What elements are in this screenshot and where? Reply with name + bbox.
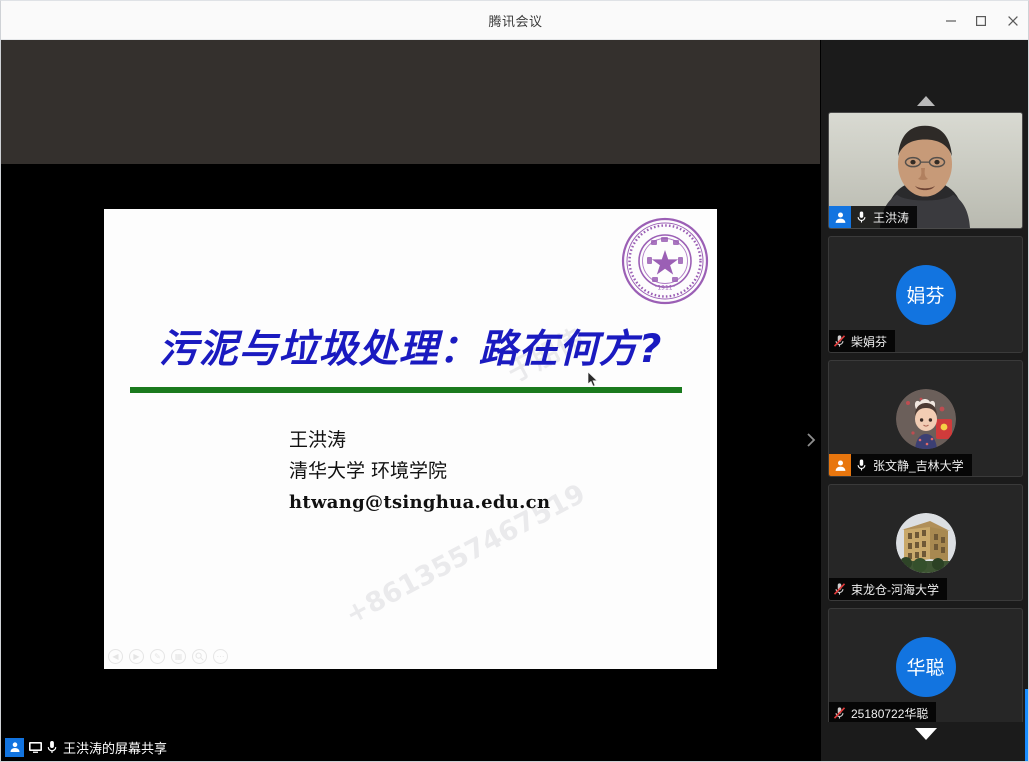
maximize-button[interactable] xyxy=(966,1,996,40)
avatar xyxy=(896,389,956,449)
all-slides-button[interactable]: ▦ xyxy=(171,649,186,664)
screen-share-icon xyxy=(28,741,43,754)
participant-name: 柴娟芬 xyxy=(851,333,887,350)
window-title: 腾讯会议 xyxy=(488,11,542,30)
participant-tile[interactable]: 娟芬 柴娟芬 xyxy=(828,236,1023,353)
participant-tile[interactable]: 张文静_吉林大学 xyxy=(828,360,1023,477)
title-bar: 腾讯会议 xyxy=(1,1,1029,40)
presentation-slide: "1911" +8613557467519 于朋伟 污泥与垃圾处理：路在何方? … xyxy=(104,209,717,669)
shared-screen-area[interactable]: "1911" +8613557467519 于朋伟 污泥与垃圾处理：路在何方? … xyxy=(1,40,820,762)
microphone-muted-icon xyxy=(829,334,849,348)
previous-slide-button[interactable]: ◀ xyxy=(108,649,123,664)
shared-desktop-background xyxy=(1,40,820,164)
participant-tiles-list: 王洪涛 娟芬 柴娟芬 xyxy=(821,112,1029,722)
more-options-button[interactable]: ⋯ xyxy=(213,649,228,664)
rail-scroll-down-triangle-down-icon[interactable] xyxy=(821,723,1029,745)
rail-scroll-up-triangle-up-icon[interactable] xyxy=(821,90,1029,112)
participant-tile[interactable]: 王洪涛 xyxy=(828,112,1023,229)
participant-label: 束龙仓-河海大学 xyxy=(829,578,947,600)
participant-label: 王洪涛 xyxy=(829,206,917,228)
slideshow-control-bar[interactable]: ◀ ▶ ✎ ▦ ⋯ xyxy=(108,649,228,664)
slide-author-name: 王洪涛 xyxy=(289,425,550,456)
host-person-icon xyxy=(5,738,24,757)
slideshow-stage: "1911" +8613557467519 于朋伟 污泥与垃圾处理：路在何方? … xyxy=(1,164,820,762)
sidebar-collapse-chevron-right-icon[interactable] xyxy=(801,420,820,460)
participant-tile[interactable]: 华聪 25180722华聪 xyxy=(828,608,1023,722)
microphone-icon xyxy=(851,458,871,472)
zoom-in-button[interactable] xyxy=(192,649,207,664)
host-person-icon xyxy=(829,206,851,228)
avatar: 娟芬 xyxy=(896,265,956,325)
screen-share-owner-label: 王洪涛的屏幕共享 xyxy=(63,738,167,757)
window-focus-accent xyxy=(1025,689,1028,761)
slide-title: 污泥与垃圾处理：路在何方? xyxy=(104,318,717,374)
microphone-muted-icon xyxy=(829,582,849,596)
microphone-muted-icon xyxy=(829,706,849,720)
avatar: 华聪 xyxy=(896,637,956,697)
close-button[interactable] xyxy=(996,1,1029,40)
participant-name: 张文静_吉林大学 xyxy=(873,457,964,474)
next-slide-button[interactable]: ▶ xyxy=(129,649,144,664)
tsinghua-university-seal-icon: "1911" xyxy=(621,217,709,305)
microphone-icon xyxy=(851,210,871,224)
svg-text:"1911": "1911" xyxy=(655,285,676,292)
participant-label: 25180722华聪 xyxy=(829,702,936,722)
participant-label: 张文静_吉林大学 xyxy=(829,454,972,476)
microphone-icon xyxy=(46,740,58,754)
screen-share-status-bar: 王洪涛的屏幕共享 xyxy=(5,736,174,758)
slide-affiliation: 清华大学 环境学院 xyxy=(289,456,550,487)
window-controls xyxy=(936,1,1029,40)
participant-name: 25180722华聪 xyxy=(851,705,928,722)
tencent-meeting-window: 腾讯会议 xyxy=(0,0,1029,762)
participant-name: 王洪涛 xyxy=(873,209,909,226)
host-person-icon xyxy=(829,454,851,476)
pen-tool-button[interactable]: ✎ xyxy=(150,649,165,664)
avatar xyxy=(896,513,956,573)
minimize-button[interactable] xyxy=(936,1,966,40)
participant-video-rail: 王洪涛 娟芬 柴娟芬 xyxy=(821,40,1029,762)
slide-author-block: 王洪涛 清华大学 环境学院 htwang@tsinghua.edu.cn xyxy=(289,425,550,518)
participant-name: 束龙仓-河海大学 xyxy=(851,581,939,598)
slide-email: htwang@tsinghua.edu.cn xyxy=(289,487,550,518)
participant-label: 柴娟芬 xyxy=(829,330,895,352)
participant-tile[interactable]: 束龙仓-河海大学 xyxy=(828,484,1023,601)
